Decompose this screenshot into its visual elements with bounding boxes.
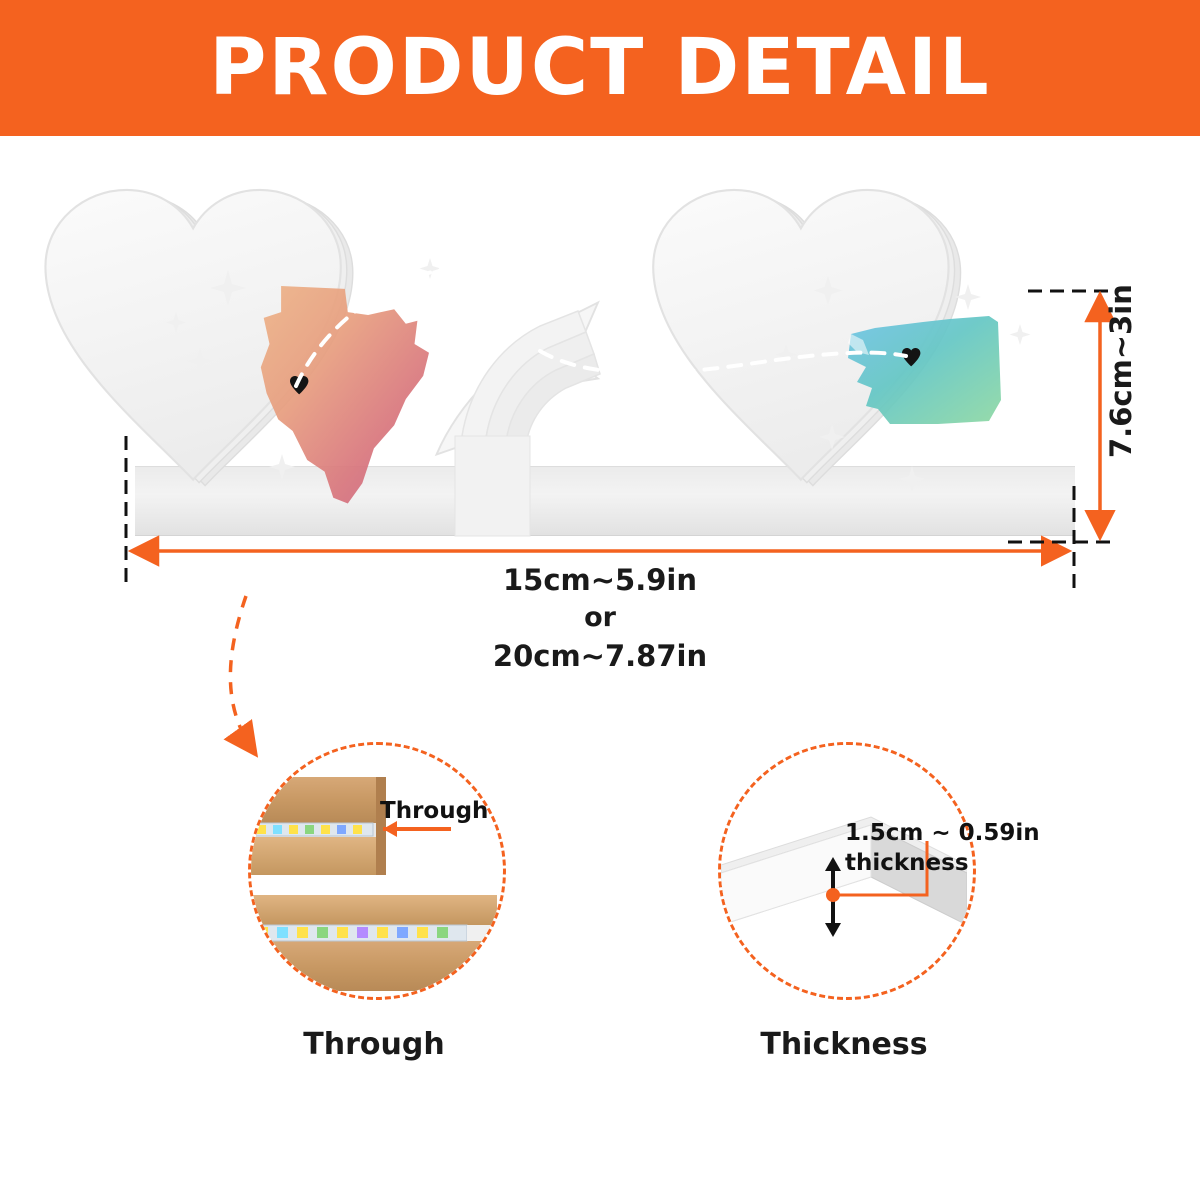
detail-circle-through [248, 742, 506, 1000]
heart-plate-right [653, 190, 960, 486]
sparkles-right [776, 276, 1031, 492]
header-banner: PRODUCT DETAIL [0, 0, 1200, 136]
through-callout-label: Through [380, 798, 488, 824]
dimension-or-label: or [584, 602, 616, 633]
thickness-caption: Thickness [694, 1027, 994, 1062]
flight-path-dashed [296, 264, 906, 386]
thickness-callout-line-1: 1.5cm ~ 0.59in [845, 820, 1040, 846]
through-illustration [251, 745, 497, 991]
map-washington [848, 316, 1001, 424]
dimension-height-label: 7.6cm~3in [1104, 284, 1138, 458]
page-title: PRODUCT DETAIL [209, 29, 991, 107]
sparkles-left [166, 258, 441, 480]
marker-heart-right [902, 348, 920, 366]
dimension-width-label-2: 20cm~7.87in [493, 639, 707, 673]
heart-plate-left [45, 190, 352, 486]
through-caption: Through [224, 1027, 524, 1062]
marker-heart-left [290, 376, 308, 394]
dimension-width-label-1: 15cm~5.9in [503, 563, 697, 597]
acrylic-base-bar [135, 466, 1075, 536]
thickness-callout-line-2: thickness [845, 850, 969, 876]
product-illustration: 7.6cm~3in 15cm~5.9in or 20cm~7.87in [0, 136, 1200, 696]
